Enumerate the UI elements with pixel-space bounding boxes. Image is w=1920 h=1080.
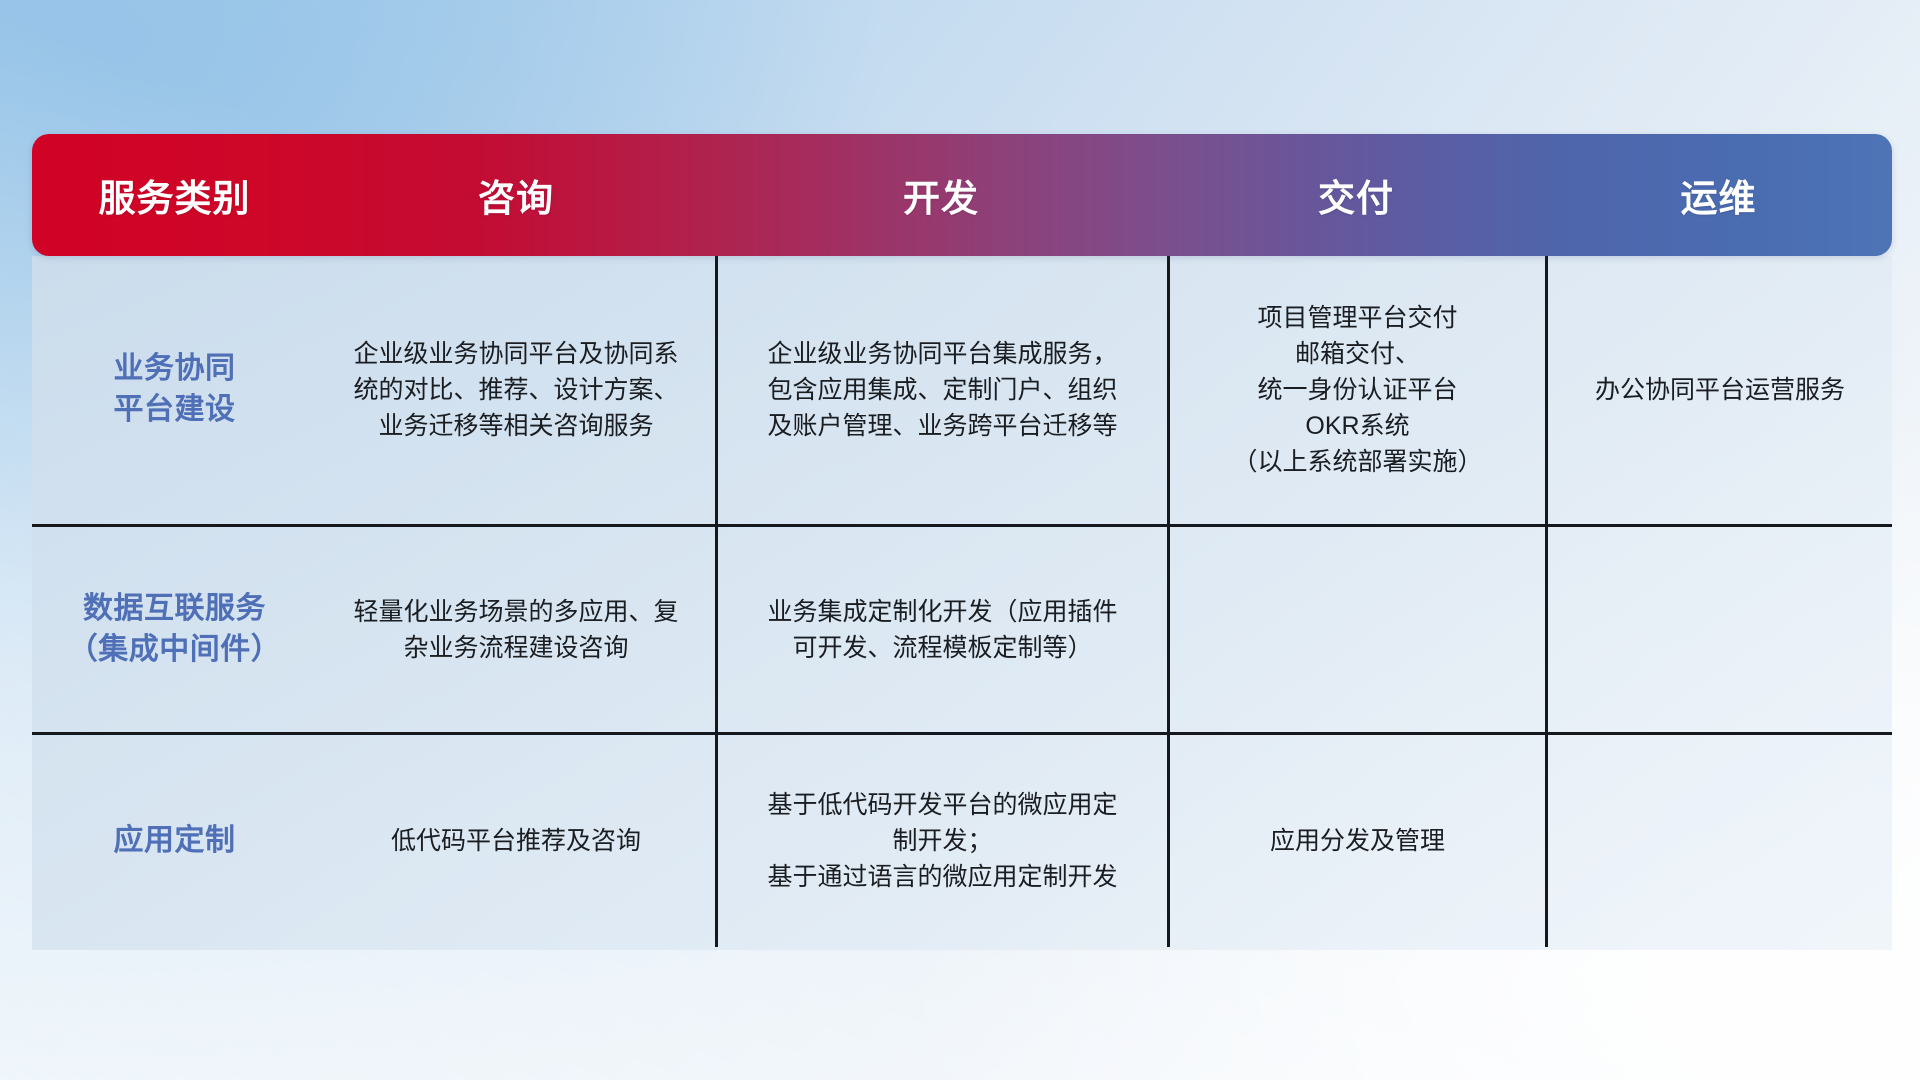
cell-delivery: 项目管理平台交付 邮箱交付、 统一身份认证平台 OKR系统 （以上系统部署实施） bbox=[1167, 256, 1545, 524]
table-body: 业务协同 平台建设 企业级业务协同平台及协同系 统的对比、推荐、设计方案、 业务… bbox=[32, 256, 1892, 950]
column-header-consulting: 咨询 bbox=[317, 168, 715, 222]
row-label-text: 应用定制 bbox=[114, 821, 236, 862]
cell-development: 基于低代码开发平台的微应用定 制开发； 基于通过语言的微应用定制开发 bbox=[715, 735, 1167, 947]
service-matrix-table: 服务类别 咨询 开发 交付 运维 业务协同 平台建设 企业级业务协同平台及协同系… bbox=[32, 134, 1892, 950]
row-label-text: 业务协同 平台建设 bbox=[114, 349, 236, 431]
cell-operations bbox=[1545, 735, 1892, 947]
table-row: 业务协同 平台建设 企业级业务协同平台及协同系 统的对比、推荐、设计方案、 业务… bbox=[32, 256, 1892, 524]
column-header-category: 服务类别 bbox=[32, 168, 317, 222]
row-label-text: 数据互联服务 （集成中间件） bbox=[68, 589, 282, 671]
row-label-cell: 应用定制 bbox=[32, 735, 317, 947]
row-label-cell: 数据互联服务 （集成中间件） bbox=[32, 527, 317, 732]
row-label-cell: 业务协同 平台建设 bbox=[32, 256, 317, 524]
cell-text: 应用分发及管理 bbox=[1270, 823, 1445, 859]
cell-text: 低代码平台推荐及咨询 bbox=[391, 823, 641, 859]
cell-development: 企业级业务协同平台集成服务， 包含应用集成、定制门户、组织 及账户管理、业务跨平… bbox=[715, 256, 1167, 524]
cell-operations: 办公协同平台运营服务 bbox=[1545, 256, 1892, 524]
cell-development: 业务集成定制化开发（应用插件 可开发、流程模板定制等） bbox=[715, 527, 1167, 732]
column-header-delivery: 交付 bbox=[1167, 168, 1545, 222]
cell-delivery: 应用分发及管理 bbox=[1167, 735, 1545, 947]
cell-consulting: 低代码平台推荐及咨询 bbox=[317, 735, 715, 947]
cell-text: 基于低代码开发平台的微应用定 制开发； 基于通过语言的微应用定制开发 bbox=[767, 787, 1117, 895]
cell-consulting: 企业级业务协同平台及协同系 统的对比、推荐、设计方案、 业务迁移等相关咨询服务 bbox=[317, 256, 715, 524]
column-header-development: 开发 bbox=[715, 168, 1167, 222]
table-row: 数据互联服务 （集成中间件） 轻量化业务场景的多应用、复 杂业务流程建设咨询 业… bbox=[32, 524, 1892, 732]
cell-consulting: 轻量化业务场景的多应用、复 杂业务流程建设咨询 bbox=[317, 527, 715, 732]
cell-operations bbox=[1545, 527, 1892, 732]
cell-text: 企业级业务协同平台及协同系 统的对比、推荐、设计方案、 业务迁移等相关咨询服务 bbox=[353, 336, 678, 444]
cell-text: 项目管理平台交付 邮箱交付、 统一身份认证平台 OKR系统 （以上系统部署实施） bbox=[1232, 300, 1482, 480]
table-row: 应用定制 低代码平台推荐及咨询 基于低代码开发平台的微应用定 制开发； 基于通过… bbox=[32, 732, 1892, 947]
cell-text: 办公协同平台运营服务 bbox=[1595, 372, 1845, 408]
cell-text: 企业级业务协同平台集成服务， 包含应用集成、定制门户、组织 及账户管理、业务跨平… bbox=[767, 336, 1117, 444]
table-header-row: 服务类别 咨询 开发 交付 运维 bbox=[32, 134, 1892, 256]
cell-text: 轻量化业务场景的多应用、复 杂业务流程建设咨询 bbox=[353, 594, 678, 666]
column-header-operations: 运维 bbox=[1545, 168, 1892, 222]
cell-delivery bbox=[1167, 527, 1545, 732]
cell-text: 业务集成定制化开发（应用插件 可开发、流程模板定制等） bbox=[767, 594, 1117, 666]
